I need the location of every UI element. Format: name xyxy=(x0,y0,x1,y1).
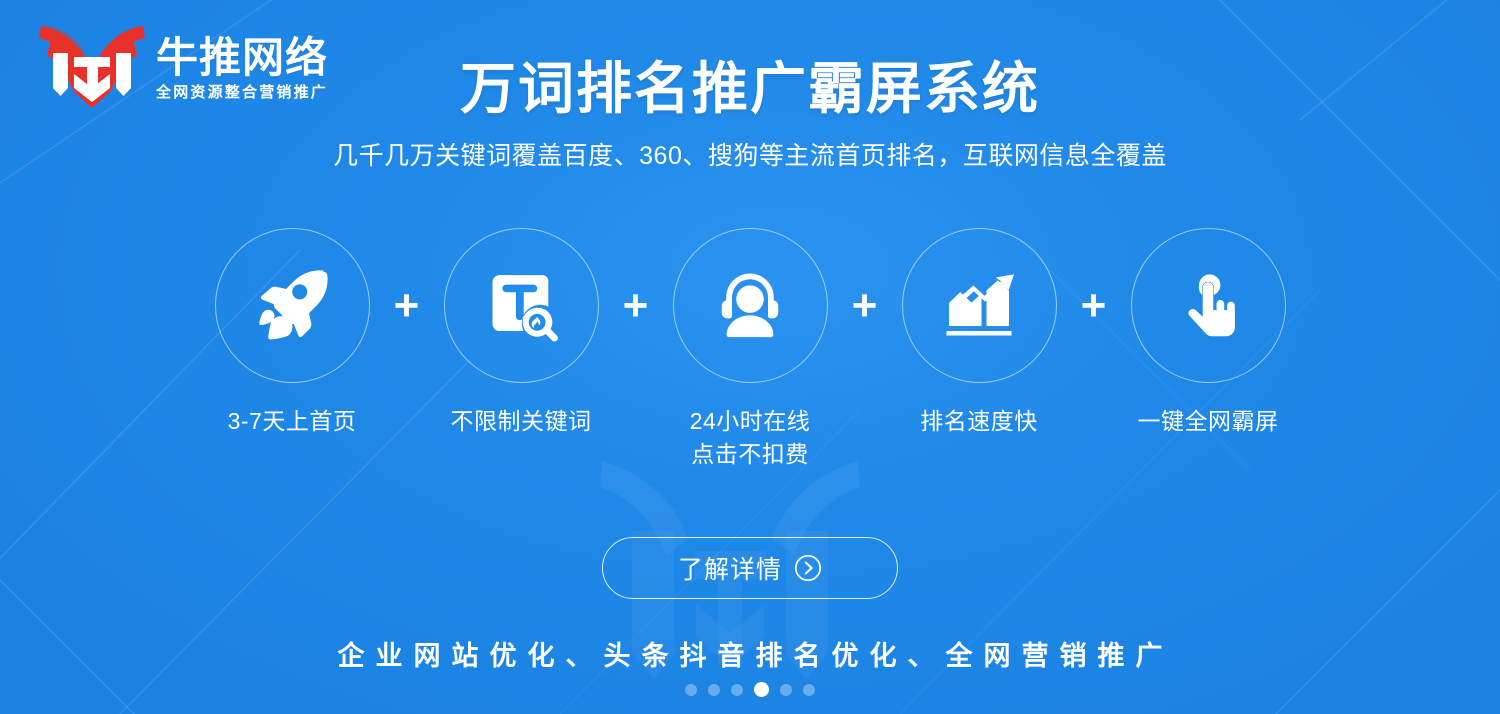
growth-chart-icon xyxy=(939,266,1019,346)
feature-label: 不限制关键词 xyxy=(451,405,592,438)
feature-icon-circle xyxy=(673,228,828,383)
carousel-dots xyxy=(685,682,815,697)
plus-separator-3: + xyxy=(829,228,901,383)
feature-icon-circle xyxy=(444,228,599,383)
circle-arrow-right-icon xyxy=(794,554,822,582)
feature-label: 一键全网霸屏 xyxy=(1138,405,1279,438)
feature-item-2[interactable]: 不限制关键词 xyxy=(443,228,600,438)
page-subtitle: 几千几万关键词覆盖百度、360、搜狗等主流首页排名，互联网信息全覆盖 xyxy=(0,136,1500,172)
hero-banner: 牛推网络 全网资源整合营销推广 万词排名推广霸屏系统 几千几万关键词覆盖百度、3… xyxy=(0,0,1500,714)
feature-item-1[interactable]: 3-7天上首页 xyxy=(214,228,371,438)
plus-separator-4: + xyxy=(1058,228,1130,383)
carousel-dot[interactable] xyxy=(708,684,720,696)
page-title: 万词排名推广霸屏系统 xyxy=(0,44,1500,125)
feature-item-5[interactable]: 一键全网霸屏 xyxy=(1130,228,1287,438)
tagline-strip: 企业网站优化、头条抖音排名优化、全网营销推广 xyxy=(0,634,1500,673)
learn-more-button[interactable]: 了解详情 xyxy=(602,537,898,599)
plus-separator-2: + xyxy=(600,228,672,383)
feature-item-4[interactable]: 排名速度快 xyxy=(901,228,1058,438)
learn-more-label: 了解详情 xyxy=(678,550,782,586)
feature-list: 3-7天上首页 + 不限制关键词 + xyxy=(0,228,1500,470)
rocket-icon xyxy=(251,265,333,347)
carousel-dot[interactable] xyxy=(803,684,815,696)
feature-icon-circle xyxy=(902,228,1057,383)
feature-label: 排名速度快 xyxy=(920,405,1038,438)
headset-support-icon xyxy=(710,266,790,346)
feature-icon-circle xyxy=(215,228,370,383)
feature-label: 3-7天上首页 xyxy=(228,405,357,438)
feature-label: 24小时在线 点击不扣费 xyxy=(690,405,811,470)
carousel-dot[interactable] xyxy=(731,684,743,696)
carousel-dot[interactable] xyxy=(685,684,697,696)
plus-separator-1: + xyxy=(371,228,443,383)
carousel-dot-active[interactable] xyxy=(754,682,769,697)
feature-item-3[interactable]: 24小时在线 点击不扣费 xyxy=(672,228,829,470)
feature-icon-circle xyxy=(1131,228,1286,383)
tap-hand-icon xyxy=(1172,270,1244,342)
carousel-dot[interactable] xyxy=(780,684,792,696)
keyword-search-icon xyxy=(483,268,559,344)
